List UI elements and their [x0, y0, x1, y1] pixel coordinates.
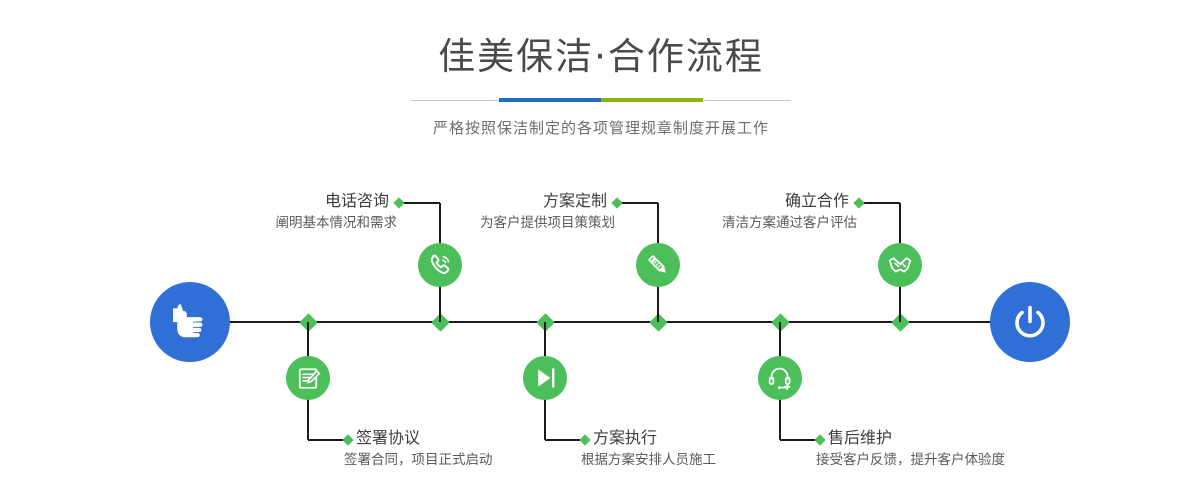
timeline-step-icon-1[interactable]	[286, 356, 330, 400]
timeline-step-label-3: 方案执行根据方案安排人员施工	[593, 428, 716, 470]
step-description: 清洁方案通过客户评估	[722, 213, 857, 233]
flow-diagram-page: 佳美保洁·合作流程 严格按照保洁制定的各项管理规章制度开展工作 签署协议签署合同…	[0, 0, 1202, 502]
timeline-label-marker	[814, 434, 825, 445]
play-execute-icon	[531, 364, 559, 392]
step-description: 签署合同，项目正式启动	[344, 450, 493, 470]
timeline-axis	[230, 321, 995, 323]
step-title: 方案定制	[480, 191, 607, 211]
timeline-step-icon-6[interactable]	[878, 243, 922, 287]
timeline-step-label-5: 售后维护接受客户反馈，提升客户体验度	[828, 428, 1005, 470]
timeline-step-label-6: 确立合作清洁方案通过客户评估	[722, 191, 849, 233]
timeline-step-icon-4[interactable]	[636, 243, 680, 287]
step-description: 根据方案安排人员施工	[581, 450, 716, 470]
document-sign-icon	[295, 365, 322, 392]
timeline-step-label-2: 电话咨询阐明基本情况和需求	[276, 191, 390, 233]
page-title: 佳美保洁·合作流程	[0, 0, 1202, 75]
step-title: 确立合作	[722, 191, 849, 211]
timeline-connector-leader	[859, 202, 900, 204]
pointing-hand-icon	[169, 301, 211, 343]
timeline-label-marker	[342, 434, 353, 445]
step-title: 电话咨询	[276, 191, 390, 211]
headset-support-icon	[766, 364, 794, 392]
title-divider	[411, 95, 791, 107]
timeline-step-icon-5[interactable]	[758, 356, 802, 400]
power-icon	[1008, 300, 1052, 344]
handshake-icon	[886, 251, 914, 279]
step-title: 售后维护	[828, 428, 1005, 448]
page-header: 佳美保洁·合作流程 严格按照保洁制定的各项管理规章制度开展工作	[0, 0, 1202, 138]
page-subtitle: 严格按照保洁制定的各项管理规章制度开展工作	[0, 117, 1202, 138]
divider-segment-green	[601, 98, 703, 102]
step-description: 为客户提供项目策策划	[480, 213, 615, 233]
timeline-label-marker	[853, 197, 864, 208]
timeline-label-marker	[579, 434, 590, 445]
step-title: 方案执行	[593, 428, 716, 448]
timeline-step-label-1: 签署协议签署合同，项目正式启动	[356, 428, 493, 470]
step-description: 接受客户反馈，提升客户体验度	[816, 450, 1005, 470]
divider-segment-blue	[499, 98, 601, 102]
step-title: 签署协议	[356, 428, 493, 448]
timeline-step-icon-2[interactable]	[418, 243, 462, 287]
timeline-label-marker	[611, 197, 622, 208]
step-description: 阐明基本情况和需求	[276, 213, 398, 233]
timeline-step-label-4: 方案定制为客户提供项目策策划	[480, 191, 607, 233]
timeline-connector-leader	[399, 202, 440, 204]
pencil-edit-icon	[644, 251, 672, 279]
timeline-label-marker	[393, 197, 404, 208]
timeline-start-node	[150, 282, 230, 362]
timeline-step-icon-3[interactable]	[523, 356, 567, 400]
timeline-connector-leader	[617, 202, 658, 204]
phone-call-icon	[426, 251, 454, 279]
timeline-end-node	[990, 282, 1070, 362]
